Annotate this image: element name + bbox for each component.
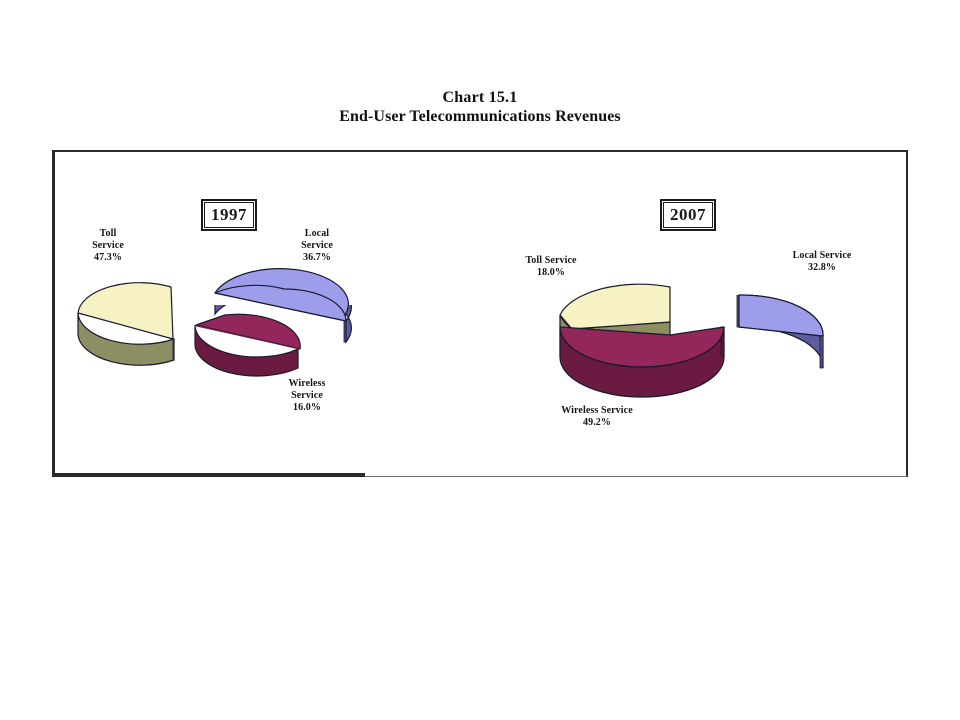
pie-label-local-2007-value: 32.8% <box>770 262 874 274</box>
pie-label-toll-1997: Toll Service 47.3% <box>72 228 144 264</box>
pie-label-toll-1997-value: 47.3% <box>72 252 144 264</box>
pie-label-local-1997-name2: Service <box>281 240 353 252</box>
pie-label-local-1997-value: 36.7% <box>281 252 353 264</box>
pie-slice-wireless-1997-top <box>194 314 300 349</box>
pie-label-local-1997: Local Service 36.7% <box>281 228 353 264</box>
pie-slice-local-1997-top <box>215 269 348 321</box>
pie-label-wireless-1997-name2: Service <box>270 390 344 402</box>
chart-title-line-2: End-User Telecommunications Revenues <box>0 107 960 126</box>
year-badge-1997: 1997 <box>201 199 257 231</box>
pie-label-toll-1997-name2: Service <box>72 240 144 252</box>
frame-bottom-accent <box>52 473 365 477</box>
pie-label-wireless-1997: Wireless Service 16.0% <box>270 378 344 414</box>
pie-label-local-2007: Local Service 32.8% <box>770 250 874 274</box>
pie-slice-toll-2007-top <box>560 284 670 329</box>
pie-2007-svg <box>520 265 860 415</box>
pie-label-wireless-1997-value: 16.0% <box>270 402 344 414</box>
pie-label-toll-2007: Toll Service 18.0% <box>503 255 599 279</box>
pie-label-toll-2007-name1: Toll Service <box>503 255 599 267</box>
pie-label-wireless-2007-value: 49.2% <box>537 417 657 429</box>
year-badge-1997-text: 1997 <box>204 202 254 228</box>
pie-label-wireless-2007-name1: Wireless Service <box>537 405 657 417</box>
pie-chart-2007 <box>520 265 860 415</box>
chart-title-line-1: Chart 15.1 <box>0 88 960 107</box>
pie-label-wireless-1997-name1: Wireless <box>270 378 344 390</box>
pie-label-toll-1997-name1: Toll <box>72 228 144 240</box>
pie-label-local-1997-name1: Local <box>281 228 353 240</box>
pie-label-local-2007-name1: Local Service <box>770 250 874 262</box>
year-badge-2007: 2007 <box>660 199 716 231</box>
chart-title-block: Chart 15.1 End-User Telecommunications R… <box>0 88 960 126</box>
pie-label-wireless-2007: Wireless Service 49.2% <box>537 405 657 429</box>
pie-slice-toll-1997-top <box>78 283 173 339</box>
year-badge-2007-text: 2007 <box>663 202 713 228</box>
pie-slice-local-2007-top <box>739 295 823 336</box>
pie-label-toll-2007-value: 18.0% <box>503 267 599 279</box>
